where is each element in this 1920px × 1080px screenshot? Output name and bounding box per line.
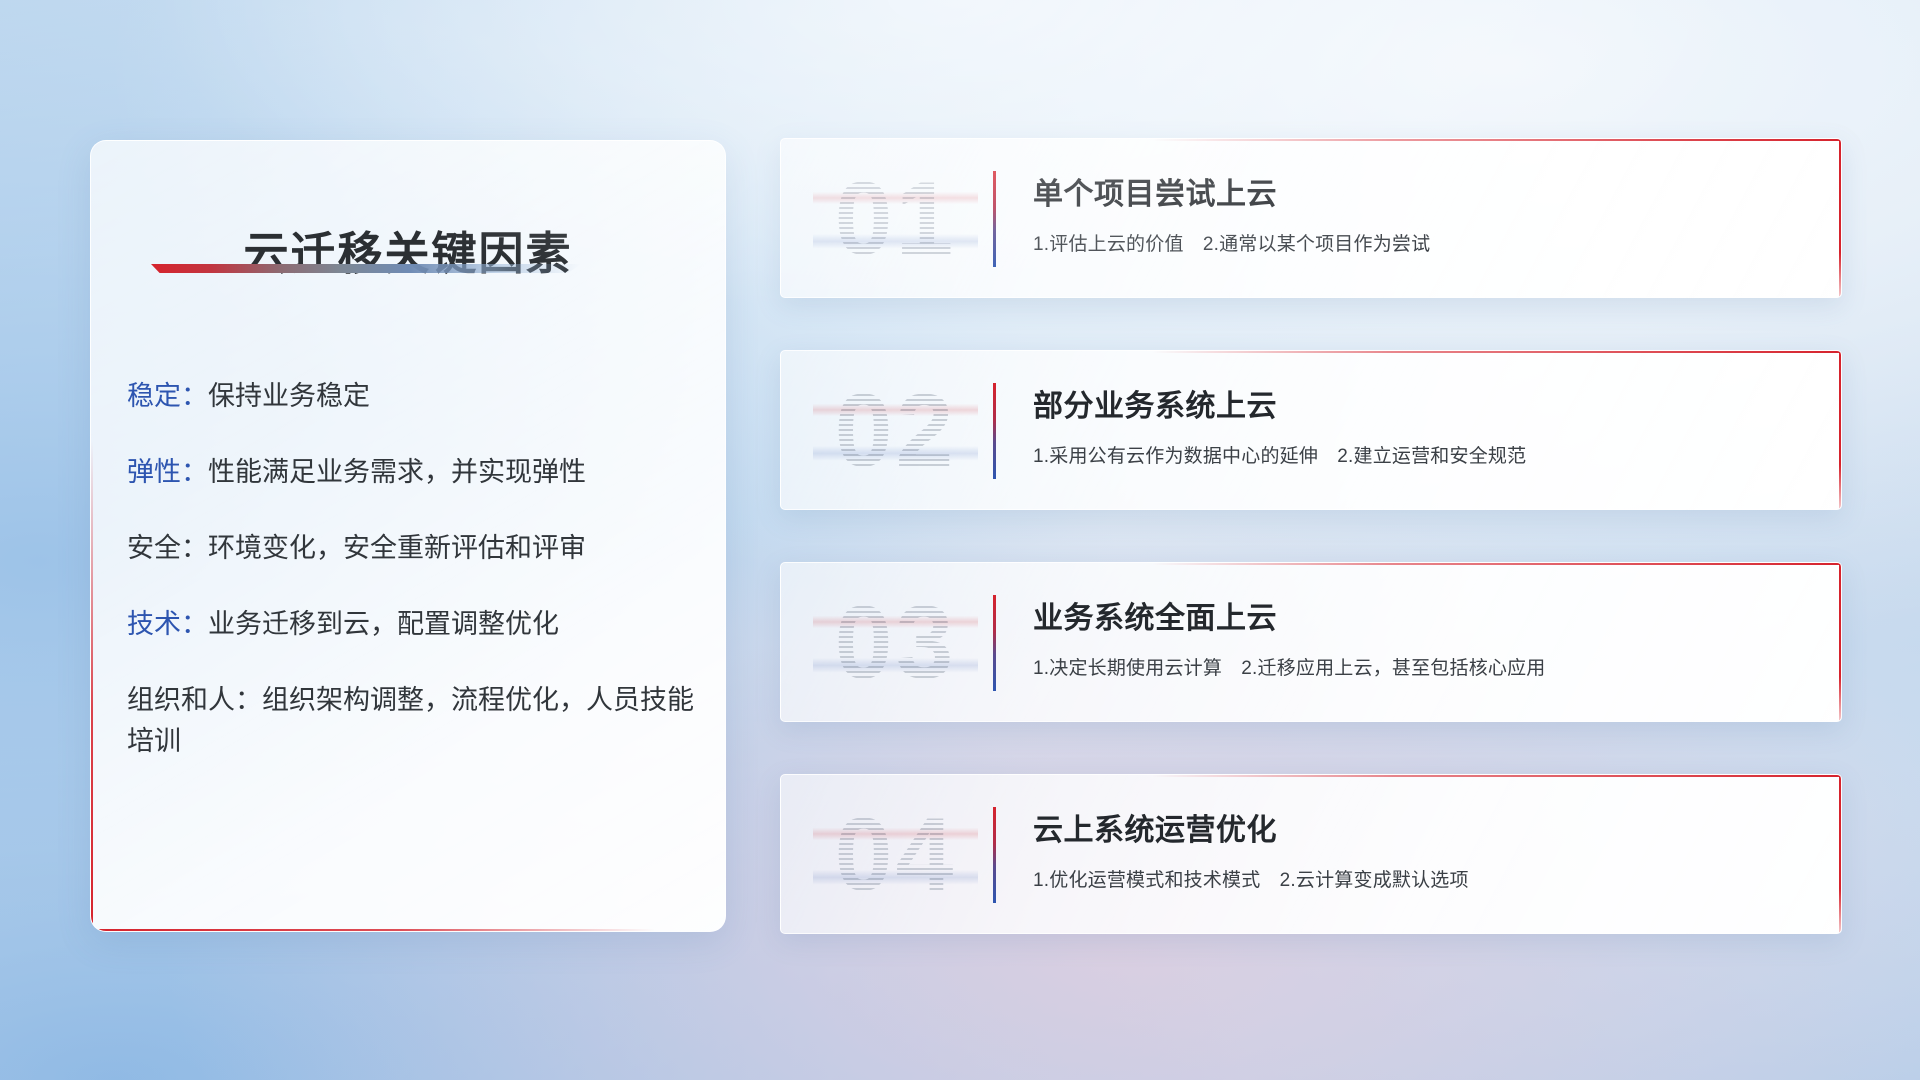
list-item: 稳定：保持业务稳定 bbox=[127, 376, 695, 417]
card-title: 业务系统全面上云 bbox=[1033, 593, 1801, 637]
card-title: 单个项目尝试上云 bbox=[1033, 169, 1801, 213]
card-top-accent-line bbox=[1152, 775, 1841, 777]
stage-number: 04 bbox=[813, 793, 978, 917]
stage-card[interactable]: 03 业务系统全面上云 1.决定长期使用云计算 2.迁移应用上云，甚至包括核心应… bbox=[780, 562, 1842, 722]
factor-text: 环境变化，安全重新评估和评审 bbox=[208, 533, 586, 563]
list-item: 组织和人：组织架构调整，流程优化，人员技能培训 bbox=[127, 680, 695, 762]
panel-bottom-accent-edge bbox=[91, 929, 655, 931]
list-item: 安全：环境变化，安全重新评估和评审 bbox=[127, 528, 695, 569]
title-underline-rule bbox=[151, 264, 581, 273]
card-right-accent-line bbox=[1839, 563, 1841, 721]
stage-card[interactable]: 02 部分业务系统上云 1.采用公有云作为数据中心的延伸 2.建立运营和安全规范 bbox=[780, 350, 1842, 510]
card-accent-bar bbox=[993, 595, 996, 691]
factor-label: 稳定： bbox=[127, 381, 208, 411]
factor-label: 安全： bbox=[127, 533, 208, 563]
card-title: 云上系统运营优化 bbox=[1033, 805, 1801, 849]
factor-label: 技术： bbox=[127, 609, 208, 639]
card-top-accent-line bbox=[1152, 139, 1841, 141]
card-body: 部分业务系统上云 1.采用公有云作为数据中心的延伸 2.建立运营和安全规范 bbox=[1033, 381, 1801, 468]
list-item: 技术：业务迁移到云，配置调整优化 bbox=[127, 604, 695, 645]
card-body: 单个项目尝试上云 1.评估上云的价值 2.通常以某个项目作为尝试 bbox=[1033, 169, 1801, 256]
card-subtitle: 1.优化运营模式和技术模式 2.云计算变成默认选项 bbox=[1033, 865, 1801, 892]
card-right-accent-line bbox=[1839, 775, 1841, 933]
card-accent-bar bbox=[993, 807, 996, 903]
factor-text: 业务迁移到云，配置调整优化 bbox=[208, 609, 559, 639]
card-subtitle: 1.评估上云的价值 2.通常以某个项目作为尝试 bbox=[1033, 229, 1801, 256]
card-body: 云上系统运营优化 1.优化运营模式和技术模式 2.云计算变成默认选项 bbox=[1033, 805, 1801, 892]
card-accent-bar bbox=[993, 383, 996, 479]
key-factors-panel: 云迁移关键因素 稳定：保持业务稳定 弹性：性能满足业务需求，并实现弹性 安全：环… bbox=[90, 140, 726, 932]
migration-stage-cards: 01 单个项目尝试上云 1.评估上云的价值 2.通常以某个项目作为尝试 02 部… bbox=[780, 138, 1842, 986]
list-item: 弹性：性能满足业务需求，并实现弹性 bbox=[127, 452, 695, 493]
stage-number: 03 bbox=[813, 581, 978, 705]
stage-card[interactable]: 01 单个项目尝试上云 1.评估上云的价值 2.通常以某个项目作为尝试 bbox=[780, 138, 1842, 298]
factor-text: 保持业务稳定 bbox=[208, 381, 370, 411]
card-accent-bar bbox=[993, 171, 996, 267]
card-top-accent-line bbox=[1152, 351, 1841, 353]
factor-list: 稳定：保持业务稳定 弹性：性能满足业务需求，并实现弹性 安全：环境变化，安全重新… bbox=[127, 376, 695, 797]
factor-label: 弹性： bbox=[127, 457, 208, 487]
panel-left-accent-edge bbox=[91, 441, 93, 931]
stage-number: 01 bbox=[813, 157, 978, 281]
card-subtitle: 1.决定长期使用云计算 2.迁移应用上云，甚至包括核心应用 bbox=[1033, 653, 1801, 680]
stage-number: 02 bbox=[813, 369, 978, 493]
factor-text: 性能满足业务需求，并实现弹性 bbox=[208, 457, 586, 487]
stage-card[interactable]: 04 云上系统运营优化 1.优化运营模式和技术模式 2.云计算变成默认选项 bbox=[780, 774, 1842, 934]
card-title: 部分业务系统上云 bbox=[1033, 381, 1801, 425]
card-subtitle: 1.采用公有云作为数据中心的延伸 2.建立运营和安全规范 bbox=[1033, 441, 1801, 468]
card-top-accent-line bbox=[1152, 563, 1841, 565]
slide-canvas: 云迁移关键因素 稳定：保持业务稳定 弹性：性能满足业务需求，并实现弹性 安全：环… bbox=[0, 0, 1920, 1080]
factor-label: 组织和人： bbox=[127, 685, 262, 715]
card-right-accent-line bbox=[1839, 139, 1841, 297]
card-body: 业务系统全面上云 1.决定长期使用云计算 2.迁移应用上云，甚至包括核心应用 bbox=[1033, 593, 1801, 680]
card-right-accent-line bbox=[1839, 351, 1841, 509]
